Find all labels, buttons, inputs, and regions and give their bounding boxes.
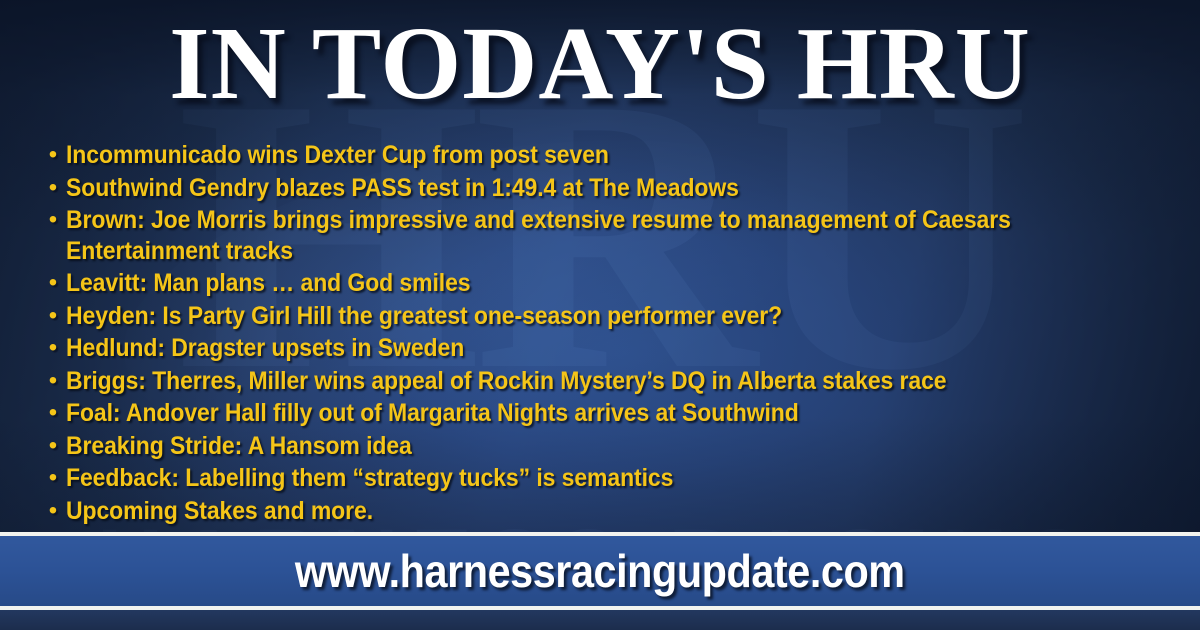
bullet-dot-icon: • <box>40 366 66 396</box>
bullet-dot-icon: • <box>40 496 66 526</box>
bullet-dot-icon: • <box>40 398 66 428</box>
list-item[interactable]: •Upcoming Stakes and more. <box>40 496 1160 527</box>
list-item-label: Breaking Stride: A Hansom idea <box>66 431 1072 462</box>
list-item-label: Hedlund: Dragster upsets in Sweden <box>66 333 1072 364</box>
list-item[interactable]: •Incommunicado wins Dexter Cup from post… <box>40 140 1160 171</box>
bullet-dot-icon: • <box>40 333 66 363</box>
bullet-dot-icon: • <box>40 205 66 235</box>
bullet-dot-icon: • <box>40 173 66 203</box>
list-item-label: Heyden: Is Party Girl Hill the greatest … <box>66 301 1072 332</box>
bullet-dot-icon: • <box>40 431 66 461</box>
list-item-label: Upcoming Stakes and more. <box>66 496 1072 527</box>
list-item[interactable]: •Breaking Stride: A Hansom idea <box>40 431 1160 462</box>
list-item-label: Brown: Joe Morris brings impressive and … <box>66 205 1072 266</box>
list-item[interactable]: •Southwind Gendry blazes PASS test in 1:… <box>40 173 1160 204</box>
website-url-text: www.harnessracingupdate.com <box>295 546 905 596</box>
bullet-dot-icon: • <box>40 140 66 170</box>
bullet-dot-icon: • <box>40 268 66 298</box>
bullet-dot-icon: • <box>40 463 66 493</box>
todays-hru-story-list: •Incommunicado wins Dexter Cup from post… <box>40 140 1160 528</box>
list-item-label: Leavitt: Man plans … and God smiles <box>66 268 1072 299</box>
list-item-label: Feedback: Labelling them “strategy tucks… <box>66 463 1072 494</box>
list-item[interactable]: •Briggs: Therres, Miller wins appeal of … <box>40 366 1160 397</box>
list-item-label: Southwind Gendry blazes PASS test in 1:4… <box>66 173 1072 204</box>
list-item[interactable]: •Heyden: Is Party Girl Hill the greatest… <box>40 301 1160 332</box>
page-title: IN TODAY'S HRU <box>0 8 1200 120</box>
list-item[interactable]: •Foal: Andover Hall filly out of Margari… <box>40 398 1160 429</box>
list-item[interactable]: •Feedback: Labelling them “strategy tuck… <box>40 463 1160 494</box>
list-item[interactable]: •Brown: Joe Morris brings impressive and… <box>40 205 1160 266</box>
footer-strip <box>0 610 1200 630</box>
list-item[interactable]: •Hedlund: Dragster upsets in Sweden <box>40 333 1160 364</box>
hru-promo-graphic: HRU HARNESS RACING IN TODAY'S HRU •Incom… <box>0 0 1200 630</box>
list-item-label: Incommunicado wins Dexter Cup from post … <box>66 140 1072 171</box>
bullet-dot-icon: • <box>40 301 66 331</box>
list-item-label: Foal: Andover Hall filly out of Margarit… <box>66 398 1072 429</box>
list-item[interactable]: •Leavitt: Man plans … and God smiles <box>40 268 1160 299</box>
list-item-label: Briggs: Therres, Miller wins appeal of R… <box>66 366 1072 397</box>
website-url-bar[interactable]: www.harnessracingupdate.com <box>0 536 1200 606</box>
